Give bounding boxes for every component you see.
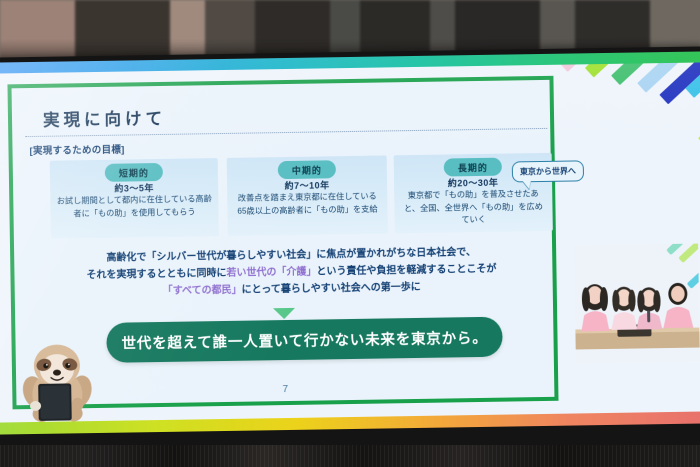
speech-bubble: 東京から世界へ bbox=[512, 160, 584, 182]
sloth-mascot bbox=[19, 339, 94, 424]
phase-box-short-term: 短期的 約3〜5年 お試し期間として都内に在住している高齢者に「もの助」を使用し… bbox=[50, 158, 219, 239]
paragraph-highlight: 若い世代の「介護」 bbox=[226, 267, 316, 279]
paragraph-text: という責任や負担を軽減することこそが bbox=[316, 264, 496, 278]
slide-page-number: 7 bbox=[21, 380, 549, 399]
slide-content-area: 実現に向けて [実現するための目標] 短期的 約3〜5年 お試し期間として都内に… bbox=[17, 85, 550, 400]
banner-pointer-icon bbox=[273, 308, 295, 319]
paragraph-text: にとって暮らしやすい社会への第一歩に bbox=[242, 282, 421, 296]
phase-description: 東京都で「もの助」を普及させたあと、全国、全世界へ「もの助」を広めていく bbox=[400, 188, 547, 228]
conclusion-banner: 世代を超えて誰一人置いて行かない未来を東京から。 bbox=[106, 317, 503, 363]
summary-paragraph: 高齢化で「シルバー世代が暮らしやすい社会」に焦点が置かれがちな日本社会で、 それ… bbox=[41, 243, 542, 302]
section-label: [実現するための目標] bbox=[29, 142, 124, 157]
foreground-dark-strip bbox=[0, 445, 700, 467]
phase-description: お試し期間として都内に在住している高齢者に「もの助」を使用してもらう bbox=[56, 193, 212, 220]
phase-pill-label: 短期的 bbox=[105, 163, 163, 182]
presentation-display: 実現に向けて [実現するための目標] 短期的 約3〜5年 お試し期間として都内に… bbox=[0, 51, 700, 434]
paragraph-text: それを実現するとともに同時に bbox=[86, 268, 226, 281]
live-presenter-video[interactable] bbox=[574, 244, 700, 364]
phase-pill-label: 長期的 bbox=[444, 158, 502, 177]
phase-description: 改善点を踏まえ東京都に在住している65歳以上の高齢者に「もの助」を支給 bbox=[233, 191, 381, 218]
paragraph-highlight: 「すべての都民」 bbox=[163, 285, 242, 297]
phase-pill-label: 中期的 bbox=[278, 160, 336, 179]
screenshot-stage: 実現に向けて [実現するための目標] 短期的 約3〜5年 お試し期間として都内に… bbox=[0, 0, 700, 467]
phase-box-group: 短期的 約3〜5年 お試し期間として都内に在住している高齢者に「もの助」を使用し… bbox=[28, 153, 553, 241]
page-title: 実現に向けて bbox=[43, 105, 166, 131]
phase-box-mid-term: 中期的 約7〜10年 改善点を踏まえ東京都に在住している65歳以上の高齢者に「も… bbox=[227, 155, 388, 236]
